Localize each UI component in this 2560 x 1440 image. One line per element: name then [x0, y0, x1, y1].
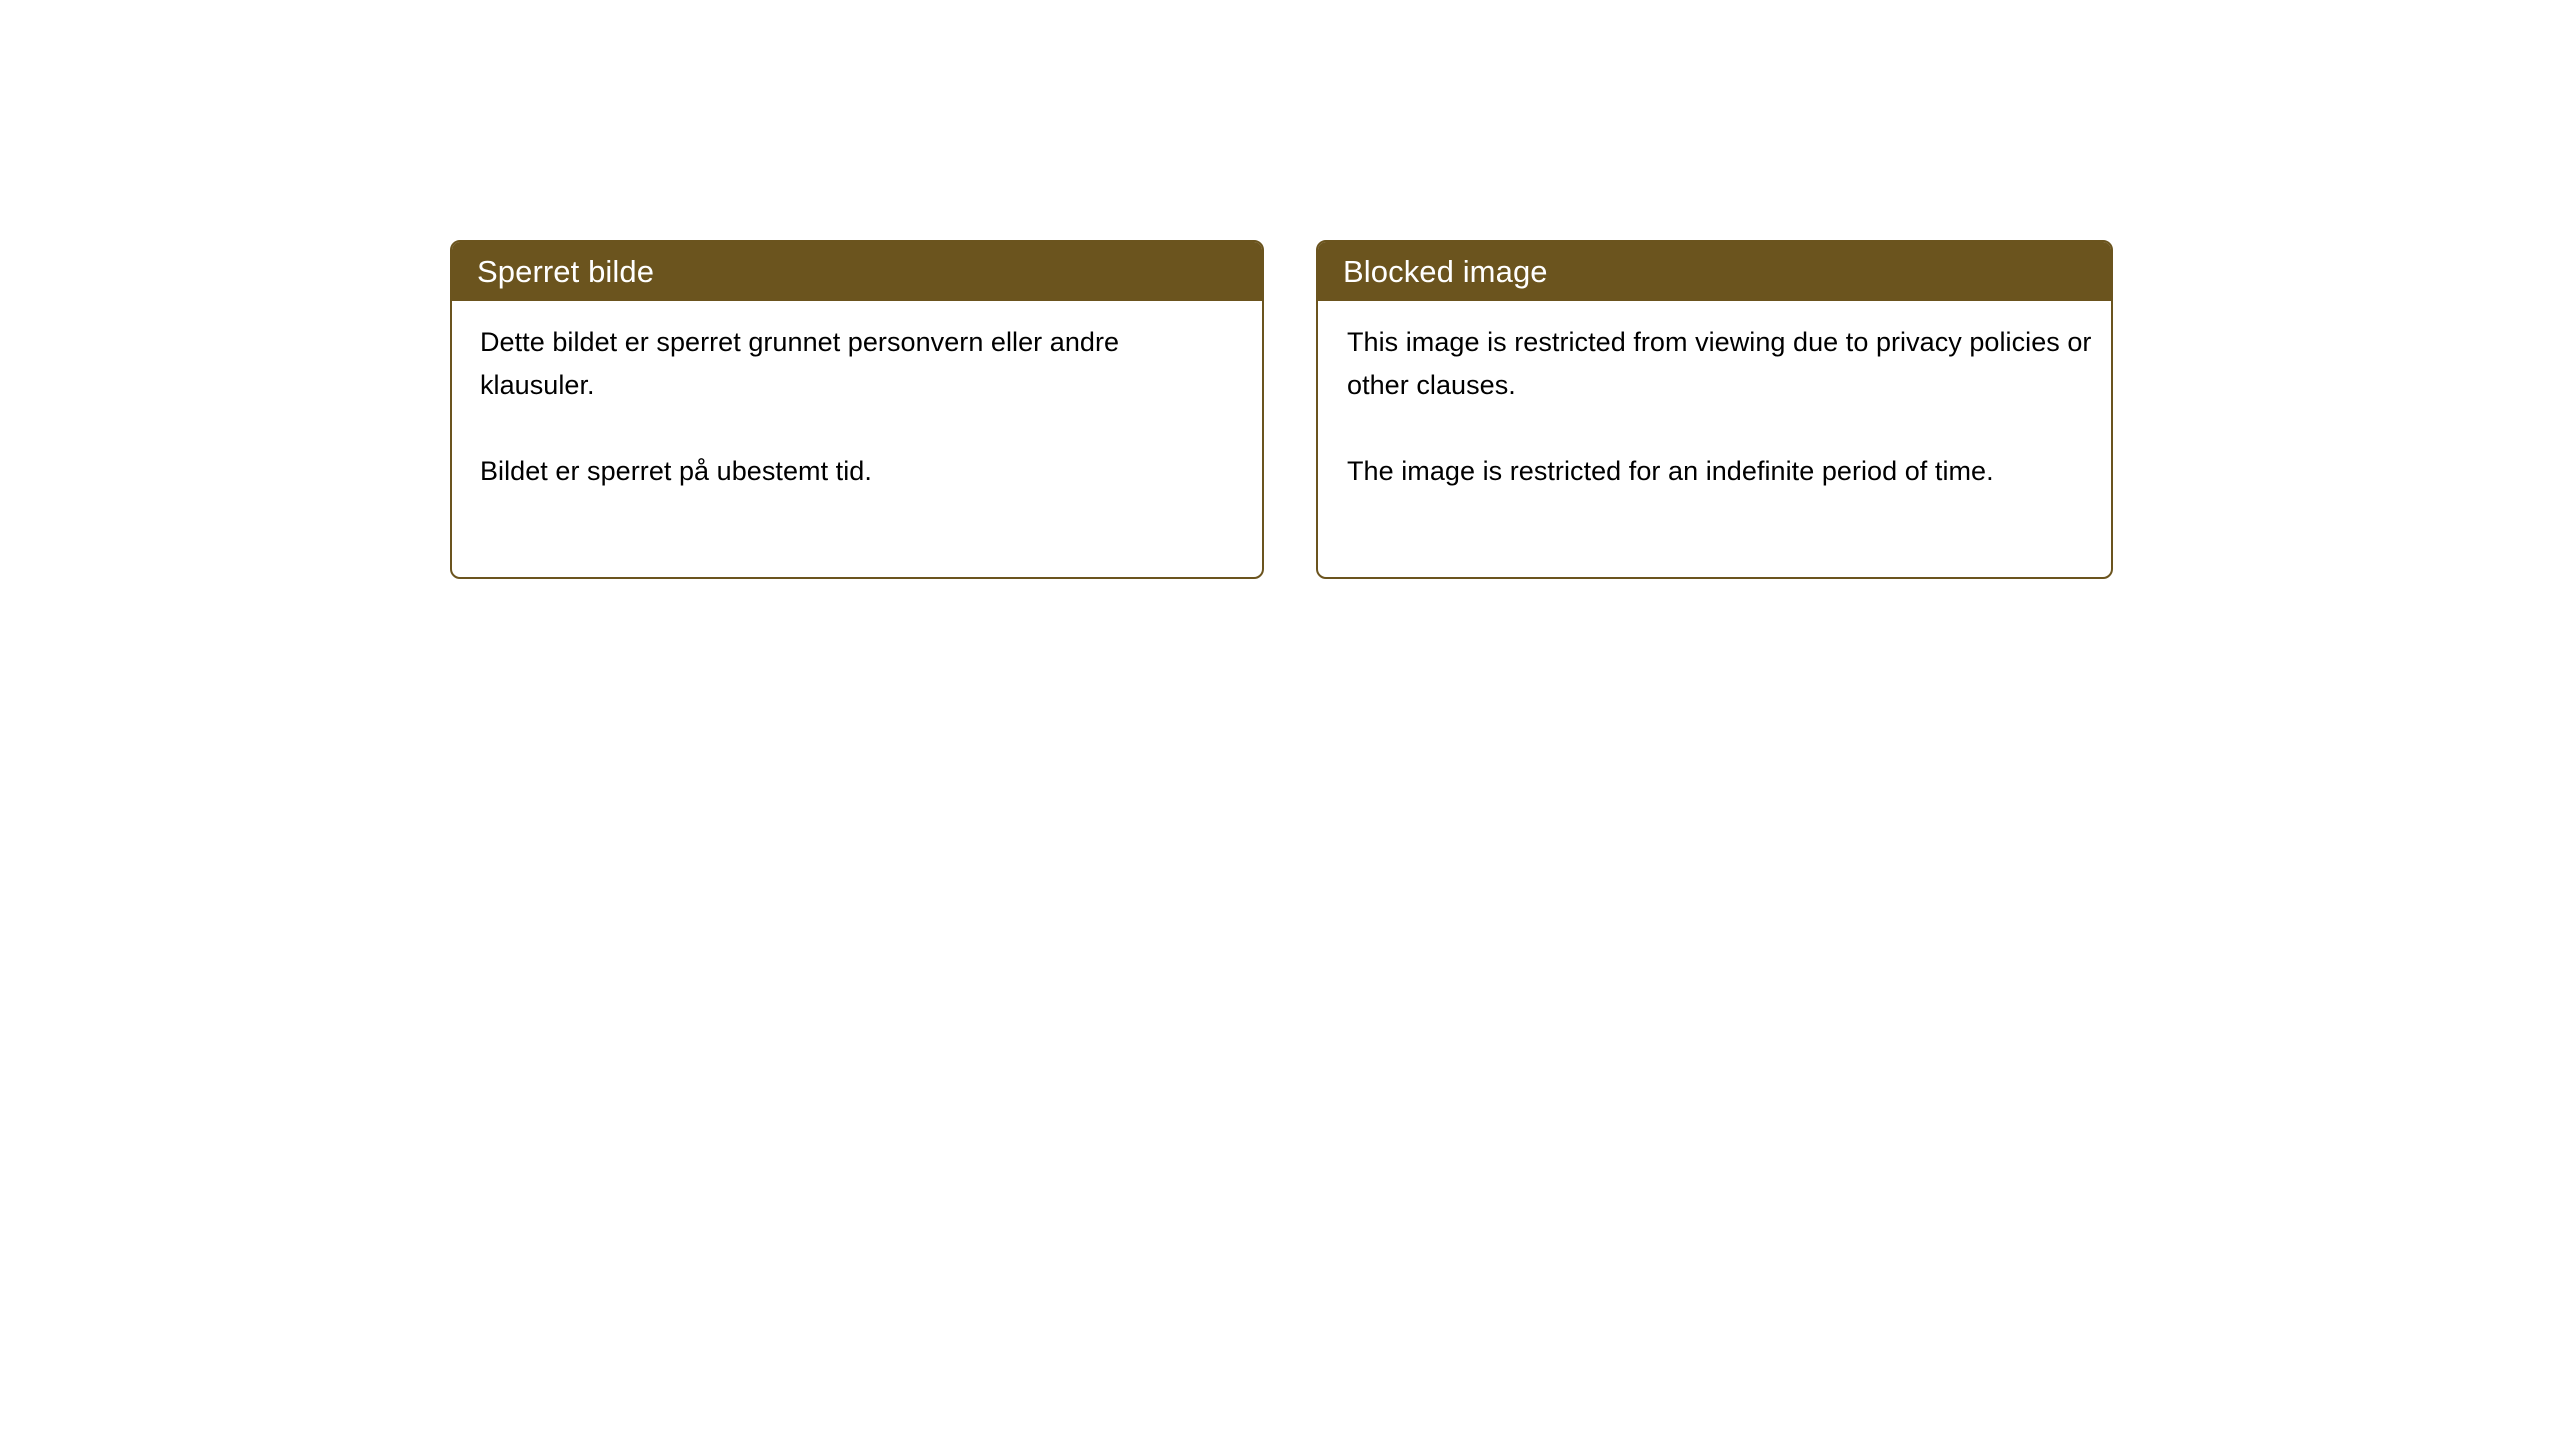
blocked-image-notice-card-en: Blocked image This image is restricted f…	[1316, 240, 2113, 579]
blocked-image-notice-card-no: Sperret bilde Dette bildet er sperret gr…	[450, 240, 1264, 579]
page-canvas: Sperret bilde Dette bildet er sperret gr…	[0, 0, 2560, 1440]
notice-title-no: Sperret bilde	[477, 256, 654, 287]
notice-body-en: This image is restricted from viewing du…	[1318, 301, 2111, 493]
notice-title-en: Blocked image	[1343, 256, 1548, 287]
notice-body-no: Dette bildet er sperret grunnet personve…	[452, 301, 1262, 493]
notice-header-en: Blocked image	[1317, 241, 2112, 301]
notice-paragraph-secondary-en: The image is restricted for an indefinit…	[1347, 450, 2093, 493]
notice-paragraph-primary-no: Dette bildet er sperret grunnet personve…	[480, 321, 1240, 407]
notice-paragraph-secondary-no: Bildet er sperret på ubestemt tid.	[480, 450, 1240, 493]
notice-paragraph-primary-en: This image is restricted from viewing du…	[1347, 321, 2093, 407]
notice-header-no: Sperret bilde	[451, 241, 1263, 301]
